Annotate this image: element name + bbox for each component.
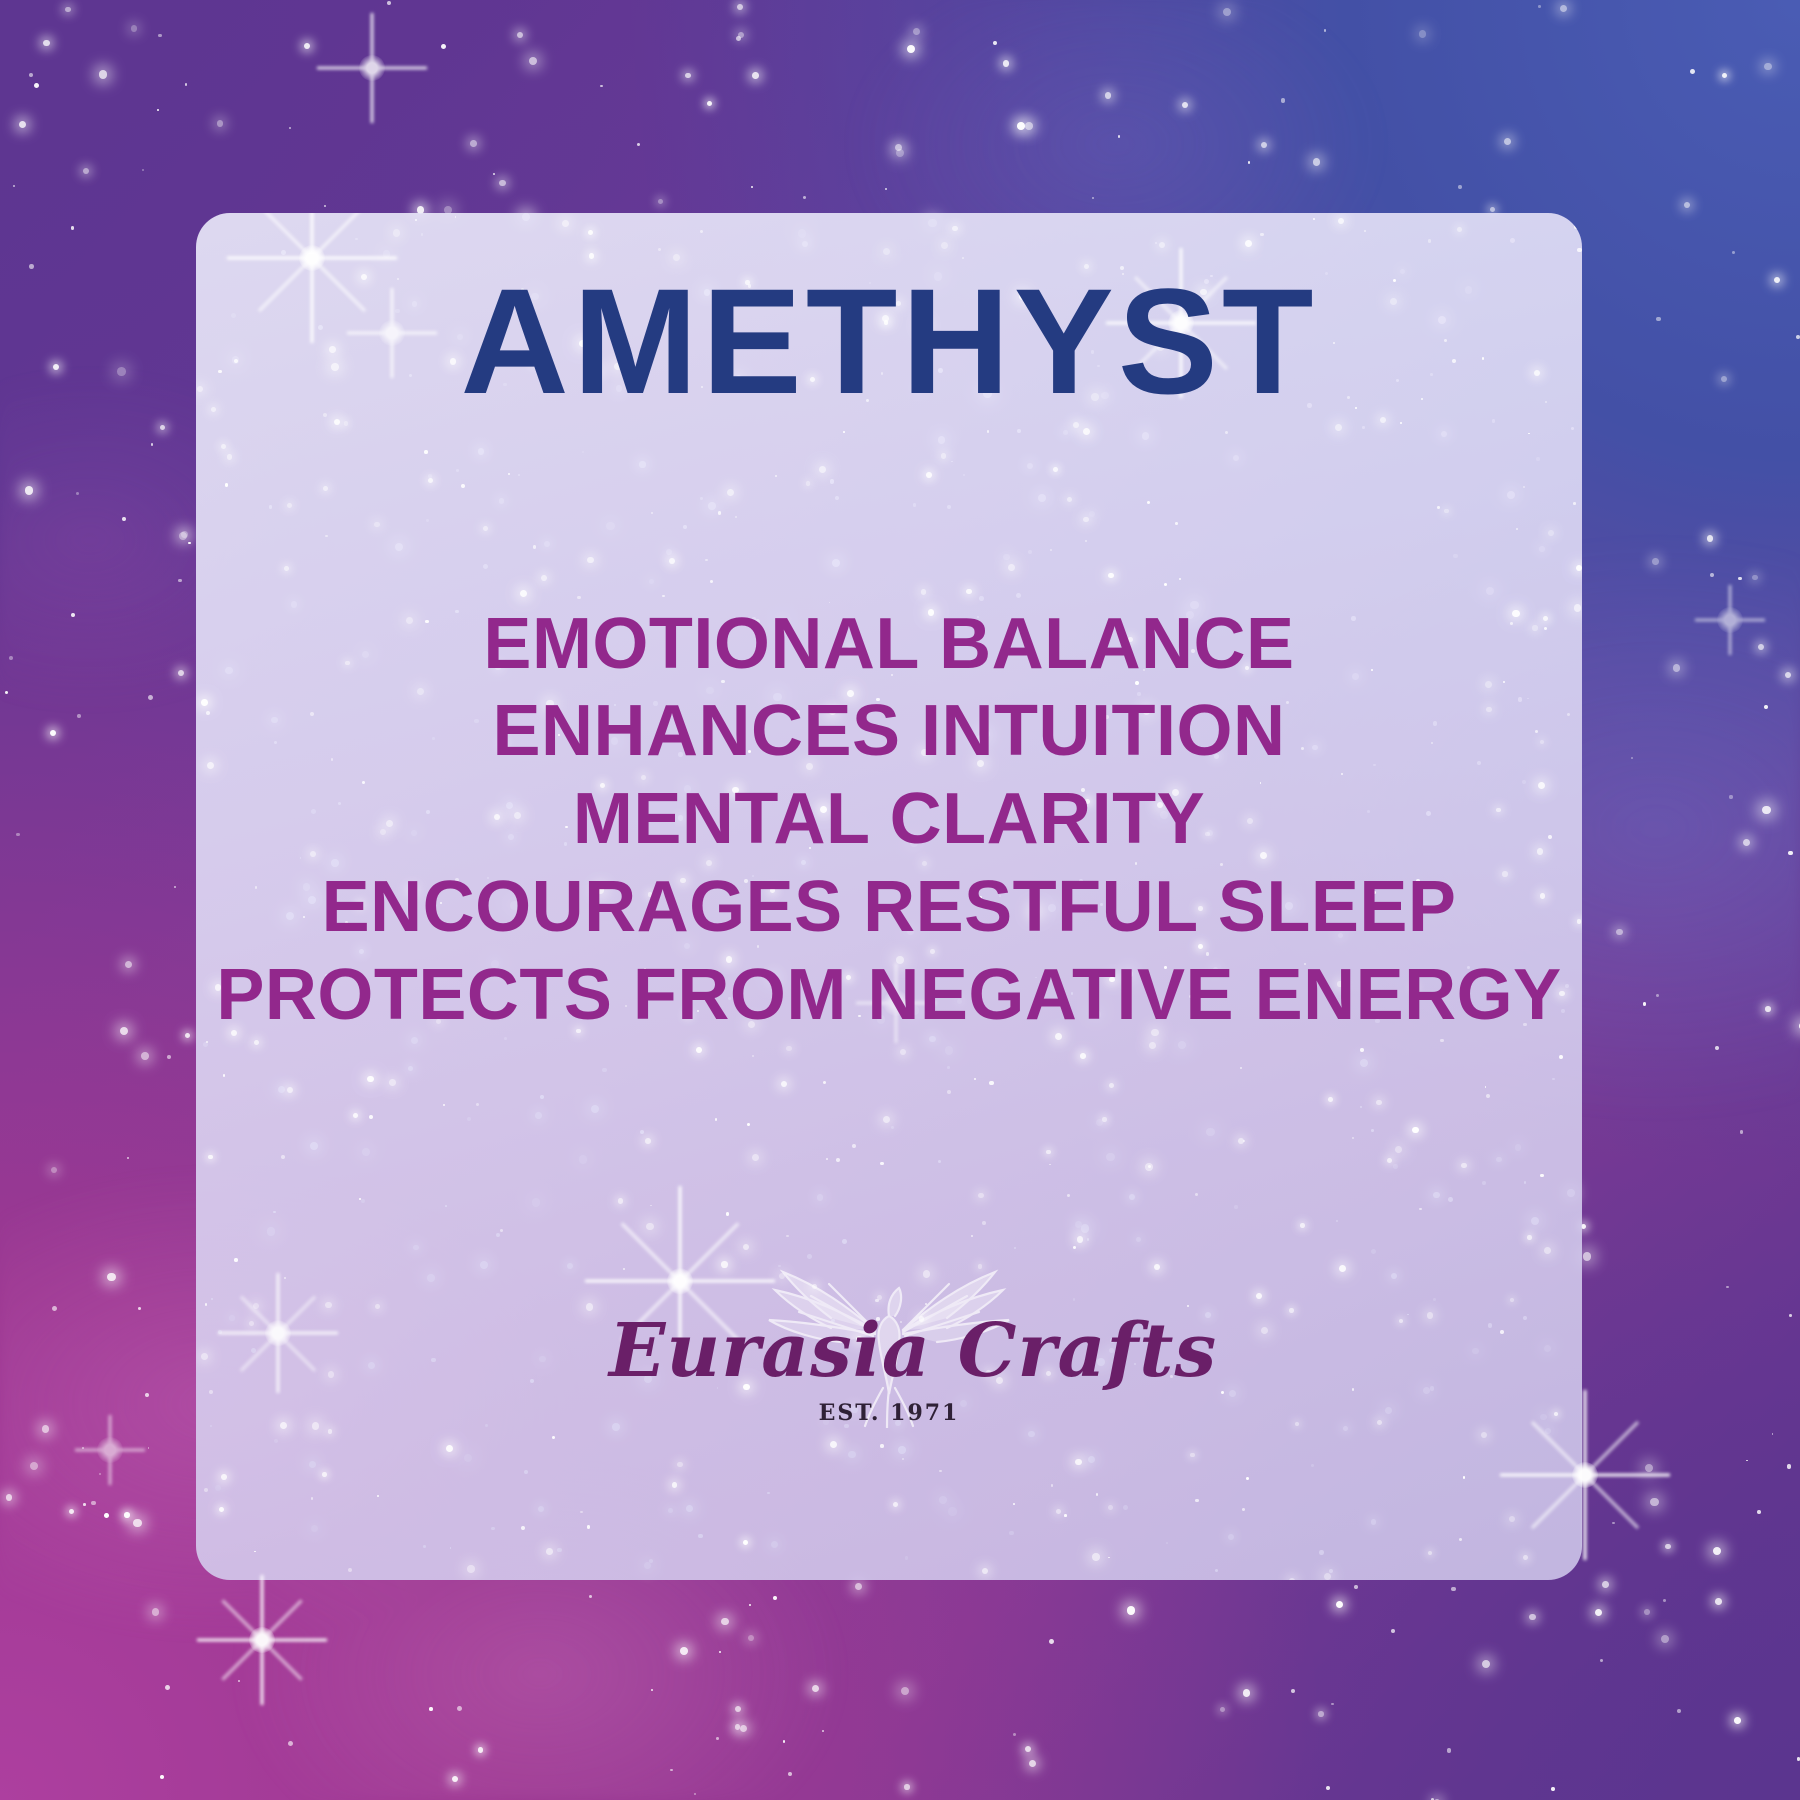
benefits-list: EMOTIONAL BALANCE ENHANCES INTUITION MEN… bbox=[216, 601, 1561, 1040]
benefit-item: MENTAL CLARITY bbox=[216, 776, 1561, 864]
amethyst-crystal-info-graphic: AMETHYST EMOTIONAL BALANCE ENHANCES INTU… bbox=[0, 0, 1800, 1800]
benefit-item: ENCOURAGES RESTFUL SLEEP bbox=[216, 864, 1561, 952]
brand-logo: Eurasia Crafts EST. 1971 bbox=[609, 1242, 1169, 1452]
brand-established: EST. 1971 bbox=[609, 1400, 1169, 1426]
page-title: AMETHYST bbox=[461, 263, 1318, 421]
benefit-item: ENHANCES INTUITION bbox=[216, 688, 1561, 776]
info-card: AMETHYST EMOTIONAL BALANCE ENHANCES INTU… bbox=[196, 213, 1582, 1580]
benefit-item: PROTECTS FROM NEGATIVE ENERGY bbox=[216, 952, 1561, 1040]
benefit-item: EMOTIONAL BALANCE bbox=[216, 601, 1561, 689]
brand-name: Eurasia Crafts bbox=[609, 1308, 1169, 1394]
